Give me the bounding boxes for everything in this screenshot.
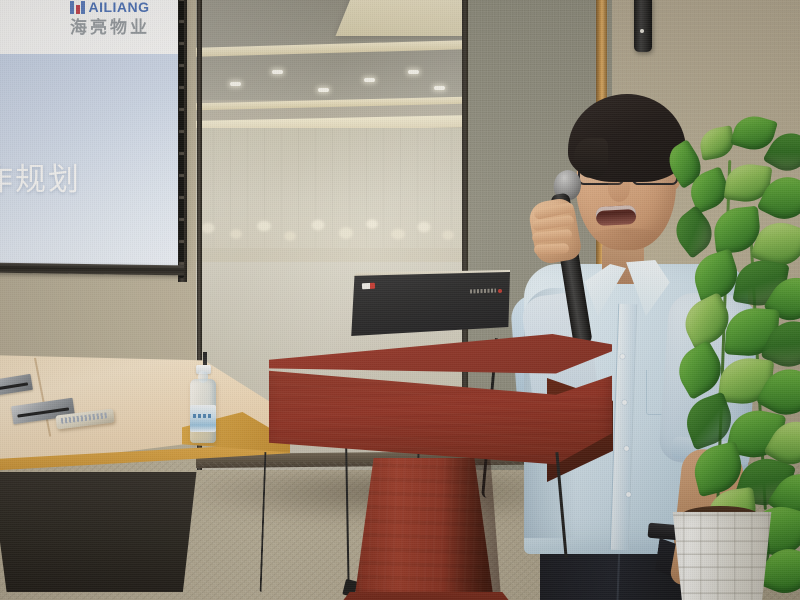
conference-table	[0, 352, 290, 600]
company-logo: AILIANG 海亮物业	[44, 0, 176, 37]
white-woven-planter	[666, 512, 778, 600]
slide-title: 作规划	[0, 154, 81, 199]
shirt-button	[626, 492, 631, 497]
mouth	[596, 205, 637, 226]
photo-scene: AILIANG 海亮物业 作规划	[0, 0, 800, 600]
table-base	[0, 472, 210, 592]
screen-side-rail	[178, 0, 187, 282]
logo-text-en: AILIANG	[88, 0, 149, 14]
slide-header: AILIANG 海亮物业	[0, 0, 184, 54]
potted-pothos-plant	[660, 120, 800, 600]
logo-text-cn: 海亮物业	[44, 20, 176, 37]
laptop-logo-badge	[362, 283, 375, 290]
thinkpad-laptop[interactable]	[348, 272, 510, 338]
logo-row: AILIANG	[44, 0, 176, 16]
projection-screen: AILIANG 海亮物业 作规划	[0, 0, 190, 284]
lamp-indicator	[640, 29, 644, 33]
shirt-button	[622, 400, 627, 405]
wall-lamp	[634, 0, 652, 52]
shirt-button	[624, 446, 629, 451]
shirt-button	[620, 354, 625, 359]
chin-shadow	[588, 228, 664, 248]
laptop-brand-dot	[498, 289, 502, 293]
water-bottle[interactable]	[190, 365, 216, 443]
plant-leaf	[668, 205, 721, 259]
finger	[534, 243, 569, 255]
slide-body: 作规划	[0, 54, 184, 268]
bottle-label	[190, 405, 216, 432]
screen-surface: AILIANG 海亮物业 作规划	[0, 0, 184, 268]
screen-bottom-bar	[0, 263, 184, 276]
logo-mark-icon	[70, 1, 85, 14]
podium-column-shadow	[440, 458, 510, 600]
podium-base	[320, 592, 532, 600]
laptop-lid	[348, 272, 510, 336]
